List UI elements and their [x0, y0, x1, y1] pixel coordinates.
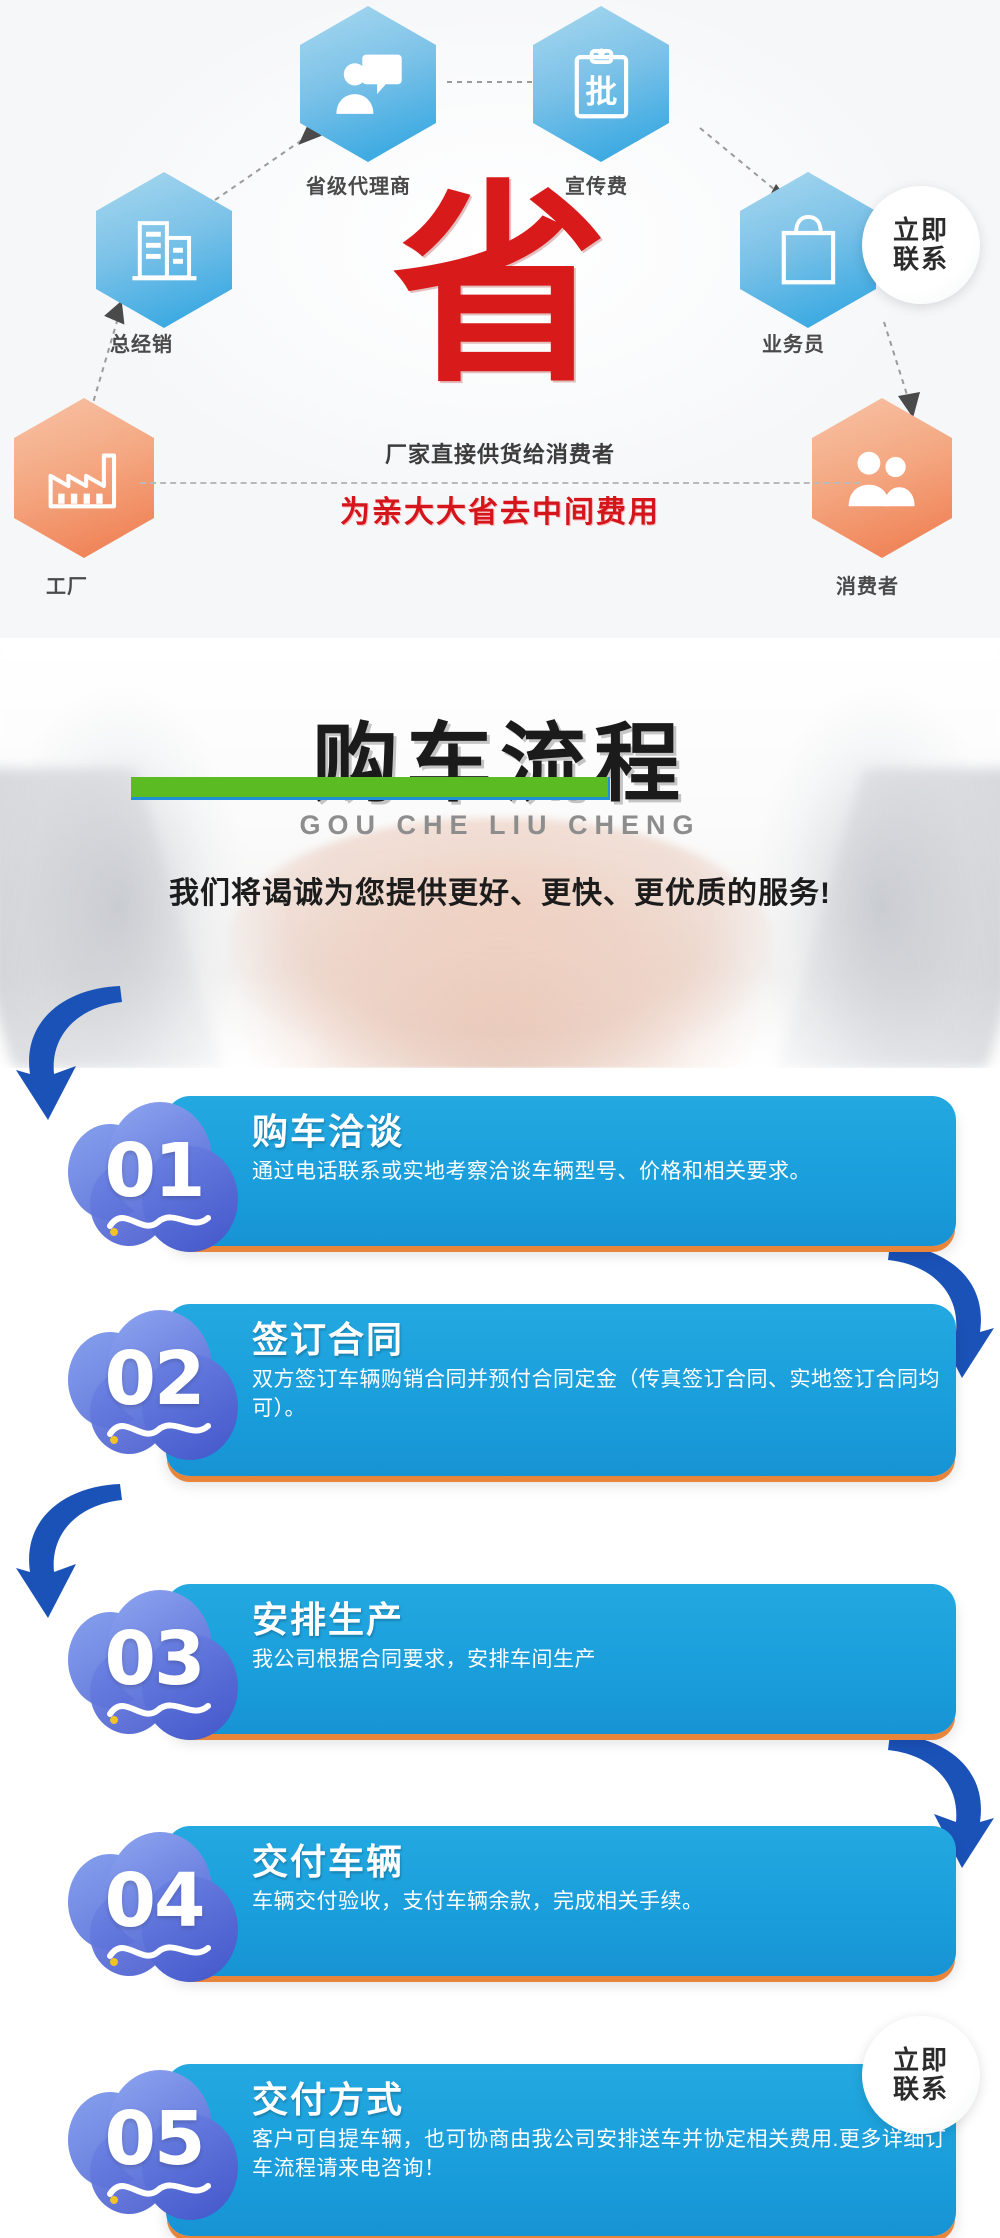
step-title: 购车洽谈 [252, 1112, 960, 1152]
node-salesman-label: 业务员 [762, 328, 825, 357]
squiggle-icon [104, 1694, 214, 1728]
step-desc: 通过电话联系或实地考察洽谈车辆型号、价格和相关要求。 [252, 1158, 960, 1187]
process-step-2[interactable]: 02 签订合同 双方签订车辆购销合同并预付合同定金（传真签订合同、实地签订合同均… [0, 1298, 1000, 1483]
contact-badge-line1: 立即 [893, 2046, 949, 2075]
red-slogan-text: 为亲大大省去中间费用 [0, 487, 1000, 531]
step-text: 购车洽谈 通过电话联系或实地考察洽谈车辆型号、价格和相关要求。 [252, 1112, 960, 1187]
process-step-3[interactable]: 03 安排生产 我公司根据合同要求，安排车间生产 [0, 1578, 1000, 1738]
step-desc: 车辆交付验收，支付车辆余款，完成相关手续。 [252, 1888, 960, 1917]
process-subtitle: 我们将谒诚为您提供更好、更快、更优质的服务! [0, 868, 1000, 912]
step-text: 签订合同 双方签订车辆购销合同并预付合同定金（传真签订合同、实地签订合同均可）。 [252, 1320, 960, 1424]
person-chat-icon [329, 39, 408, 129]
contact-badge-line2: 联系 [893, 2075, 949, 2104]
supply-line-text: 厂家直接供货给消费者 [0, 437, 1000, 469]
step-title: 交付方式 [252, 2080, 960, 2120]
process-title-pinyin: GOU CHE LIU CHENG [0, 810, 1000, 841]
building-icon [125, 205, 204, 295]
node-distributor-label: 总经销 [110, 328, 173, 357]
squiggle-icon [104, 1936, 214, 1970]
svg-text:批: 批 [585, 72, 617, 110]
process-step-5[interactable]: 05 交付方式 客户可自提车辆，也可协商由我公司安排送车并协定相关费用.更多详细… [0, 2058, 1000, 2238]
node-factory-label: 工厂 [46, 570, 88, 599]
dashed-separator [140, 482, 860, 484]
step-title: 安排生产 [252, 1600, 960, 1640]
process-step-1[interactable]: 01 购车洽谈 通过电话联系或实地考察洽谈车辆型号、价格和相关要求。 [0, 1090, 1000, 1250]
contact-badge-top[interactable]: 立即 联系 [862, 186, 980, 304]
node-consumer-label: 消费者 [836, 570, 899, 599]
squiggle-icon [104, 2174, 214, 2208]
step-title: 交付车辆 [252, 1842, 960, 1882]
step-title: 签订合同 [252, 1320, 960, 1360]
step-text: 安排生产 我公司根据合同要求，安排车间生产 [252, 1600, 960, 1675]
clipboard-pi-icon: 批 [562, 39, 641, 129]
title-underline-bar [131, 777, 610, 800]
purchase-process-section: 购车流程 GOU CHE LIU CHENG 我们将谒诚为您提供更好、更快、更优… [0, 638, 1000, 2238]
contact-badge-line1: 立即 [893, 216, 949, 245]
step-desc: 我公司根据合同要求，安排车间生产 [252, 1646, 960, 1675]
step-desc: 双方签订车辆购销合同并预付合同定金（传真签订合同、实地签订合同均可）。 [252, 1366, 960, 1424]
shopping-bag-icon [769, 205, 848, 295]
squiggle-icon [104, 1414, 214, 1448]
step-text: 交付车辆 车辆交付验收，支付车辆余款，完成相关手续。 [252, 1842, 960, 1917]
contact-badge-line2: 联系 [893, 245, 949, 274]
center-big-character: 省 [393, 178, 608, 393]
contact-badge-bottom[interactable]: 立即 联系 [862, 2016, 980, 2134]
process-step-4[interactable]: 04 交付车辆 车辆交付验收，支付车辆余款，完成相关手续。 [0, 1820, 1000, 1980]
step-desc: 客户可自提车辆，也可协商由我公司安排送车并协定相关费用.更多详细订车流程请来电咨… [252, 2126, 960, 2184]
channel-diagram-section: 工厂 总经销 省级代理商 批 宣传费 [0, 0, 1000, 638]
step-text: 交付方式 客户可自提车辆，也可协商由我公司安排送车并协定相关费用.更多详细订车流… [252, 2080, 960, 2184]
squiggle-icon [104, 1206, 214, 1240]
